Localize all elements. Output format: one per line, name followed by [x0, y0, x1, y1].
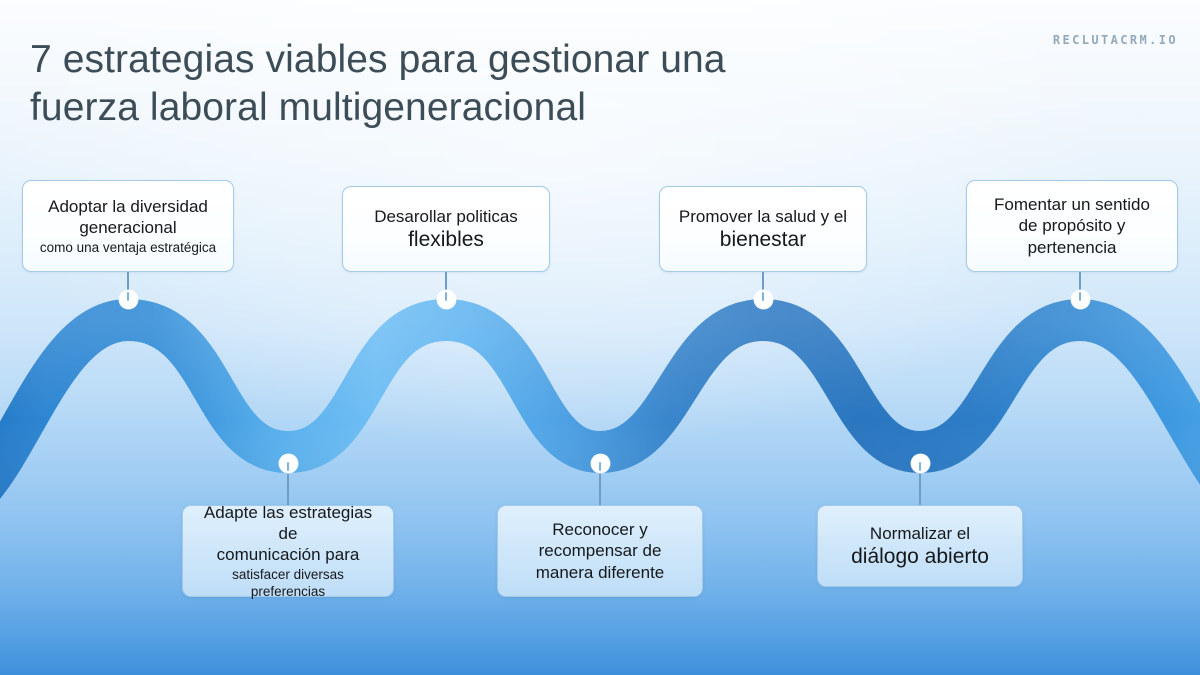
callout-3-line-1: Desarollar politicas — [355, 206, 537, 227]
milestone-node-3[interactable] — [437, 290, 456, 309]
node-notch-icon — [919, 462, 921, 471]
callout-1-line-3: como una ventaja estratégica — [35, 239, 221, 256]
node-notch-icon — [445, 292, 447, 301]
callout-4-line-2: recompensar de — [510, 540, 690, 561]
callout-box-1[interactable]: Adoptar la diversidadgeneracionalcomo un… — [22, 180, 234, 272]
callout-3-line-2: flexibles — [355, 227, 537, 252]
callout-box-2[interactable]: Adapte las estrategias decomunicación pa… — [182, 505, 394, 597]
milestone-node-2[interactable] — [279, 454, 298, 473]
callout-4-line-1: Reconocer y — [510, 519, 690, 540]
callout-7-line-3: pertenencia — [979, 237, 1165, 258]
node-notch-icon — [1079, 292, 1081, 301]
node-notch-icon — [599, 462, 601, 471]
callout-5-line-1: Promover la salud y el — [672, 206, 854, 227]
node-notch-icon — [287, 462, 289, 471]
callout-box-6[interactable]: Normalizar eldiálogo abierto — [817, 505, 1023, 587]
milestone-node-7[interactable] — [1071, 290, 1090, 309]
milestone-node-4[interactable] — [591, 454, 610, 473]
milestone-node-5[interactable] — [754, 290, 773, 309]
slide-canvas: 7 estrategias viables para gestionar una… — [0, 0, 1200, 675]
callout-box-7[interactable]: Fomentar un sentidode propósito ypertene… — [966, 180, 1178, 272]
callout-5-line-2: bienestar — [672, 227, 854, 252]
callout-6-line-2: diálogo abierto — [830, 544, 1010, 569]
callout-2-line-1: Adapte las estrategias de — [195, 502, 381, 545]
callout-box-5[interactable]: Promover la salud y elbienestar — [659, 186, 867, 272]
callout-7-line-1: Fomentar un sentido — [979, 194, 1165, 215]
callout-box-3[interactable]: Desarollar politicasflexibles — [342, 186, 550, 272]
callout-2-line-2: comunicación para — [195, 544, 381, 565]
callout-6-line-1: Normalizar el — [830, 523, 1010, 544]
callout-4-line-3: manera diferente — [510, 562, 690, 583]
milestone-node-1[interactable] — [119, 290, 138, 309]
callout-2-line-3: satisfacer diversas preferencias — [195, 566, 381, 601]
callout-box-4[interactable]: Reconocer yrecompensar demanera diferent… — [497, 505, 703, 597]
node-notch-icon — [762, 292, 764, 301]
callout-1-line-2: generacional — [35, 217, 221, 238]
callout-7-line-2: de propósito y — [979, 215, 1165, 236]
milestone-node-6[interactable] — [911, 454, 930, 473]
brand-logo: RECLUTACRM.IO — [1053, 33, 1178, 47]
page-title: 7 estrategias viables para gestionar una… — [30, 36, 910, 131]
node-notch-icon — [127, 292, 129, 301]
callout-1-line-1: Adoptar la diversidad — [35, 196, 221, 217]
